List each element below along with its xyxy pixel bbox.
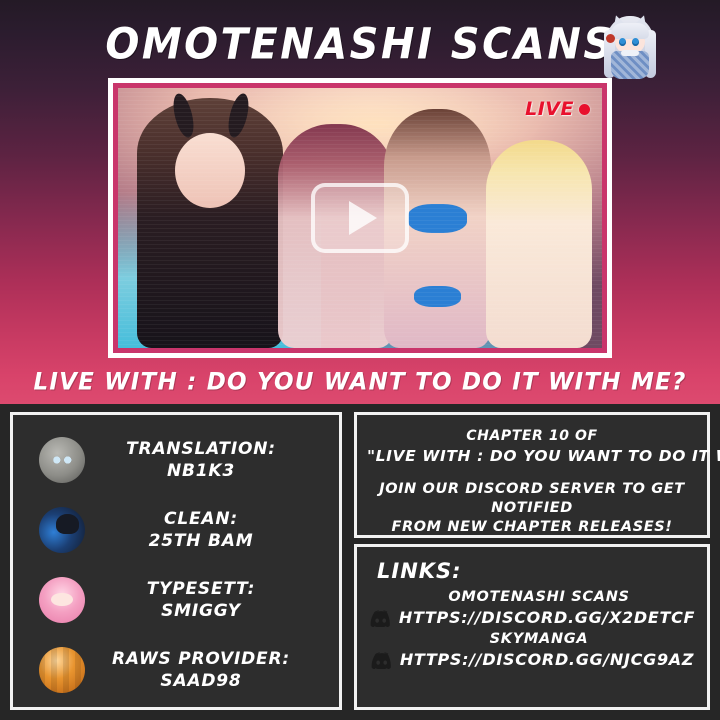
discord-icon — [370, 652, 392, 669]
links-heading: LINKS: — [357, 547, 707, 587]
info-section: TRANSLATION: NB1K3 CLEAN: 25TH BAM TYPES… — [0, 404, 720, 720]
link-row[interactable]: HTTPS://DISCORD.GG/X2DETCF — [357, 607, 707, 629]
avatar-blue-character-icon — [39, 507, 85, 553]
mascot-eye-right — [632, 38, 639, 46]
credit-role: RAWS PROVIDER: — [85, 648, 317, 670]
live-dot-icon — [579, 104, 590, 115]
list-item: OMOTENASHI SCANS HTTPS://DISCORD.GG/X2DE… — [357, 587, 707, 629]
credit-role: TYPESETT: — [85, 578, 317, 600]
status-badge: LIVE — [525, 98, 590, 120]
live-badge-label: LIVE — [525, 98, 574, 120]
mascot-hair-bow-icon — [606, 34, 615, 43]
credit-name: NB1K3 — [85, 460, 317, 482]
credit-role: CLEAN: — [85, 508, 317, 530]
banner-figure-1-bunny-ears-icon — [172, 93, 250, 138]
list-item: CLEAN: 25TH BAM — [13, 495, 339, 565]
chapter-number-line: CHAPTER 10 OF — [367, 427, 697, 446]
credit-text: RAWS PROVIDER: SAAD98 — [85, 648, 339, 692]
credit-text: TRANSLATION: NB1K3 — [85, 438, 339, 482]
mascot-collar — [621, 50, 639, 56]
work-title: LIVE WITH : DO YOU WANT TO DO IT WITH ME… — [0, 359, 720, 404]
credit-name: SAAD98 — [85, 670, 317, 692]
credit-name: SMIGGY — [85, 600, 317, 622]
credits-list: TRANSLATION: NB1K3 CLEAN: 25TH BAM TYPES… — [13, 415, 339, 705]
credit-text: TYPESETT: SMIGGY — [85, 578, 339, 622]
credit-text: CLEAN: 25TH BAM — [85, 508, 339, 552]
avatar-pink-character-icon — [39, 577, 85, 623]
banner-figure-1 — [137, 98, 282, 348]
banner-figure-3-top — [408, 204, 468, 233]
play-button[interactable] — [311, 183, 409, 253]
link-label: SKYMANGA — [357, 629, 707, 649]
list-item: RAWS PROVIDER: SAAD98 — [13, 635, 339, 705]
avatar-orange-sphere-icon — [39, 647, 85, 693]
list-item: SKYMANGA HTTPS://DISCORD.GG/NJCG9AZ — [357, 629, 707, 671]
discord-invite-text: JOIN OUR DISCORD SERVER TO GET NOTIFIED … — [367, 480, 697, 537]
banner-figure-3-bottom — [414, 286, 461, 308]
link-url[interactable]: HTTPS://DISCORD.GG/NJCG9AZ — [400, 649, 694, 671]
banner-frame: LIVE — [108, 78, 612, 358]
mascot-fringe — [611, 23, 649, 39]
chibi-mascot-icon — [597, 6, 663, 84]
release-credits-page: OMOTENASHI SCANS — [0, 0, 720, 720]
list-item: TRANSLATION: NB1K3 — [13, 425, 339, 495]
link-label: OMOTENASHI SCANS — [357, 587, 707, 607]
discord-invite-line-1: JOIN OUR DISCORD SERVER TO GET NOTIFIED — [367, 480, 697, 518]
credit-role: TRANSLATION: — [85, 438, 317, 460]
banner-figure-1-face — [175, 133, 245, 208]
link-row[interactable]: HTTPS://DISCORD.GG/NJCG9AZ — [357, 649, 707, 671]
banner-artwork[interactable]: LIVE — [118, 88, 602, 348]
avatar-grey-character-icon — [39, 437, 85, 483]
credits-panel: TRANSLATION: NB1K3 CLEAN: 25TH BAM TYPES… — [10, 412, 342, 710]
mascot-eye-left — [619, 38, 626, 46]
credit-name: 25TH BAM — [85, 530, 317, 552]
link-url[interactable]: HTTPS://DISCORD.GG/X2DETCF — [399, 607, 695, 629]
chapter-series-line: "LIVE WITH : DO YOU WANT TO DO IT WITH M… — [367, 446, 697, 466]
chapter-info-text: CHAPTER 10 OF "LIVE WITH : DO YOU WANT T… — [357, 415, 707, 537]
banner-figure-4 — [486, 140, 592, 348]
play-triangle-icon — [349, 201, 377, 235]
chapter-info-panel: CHAPTER 10 OF "LIVE WITH : DO YOU WANT T… — [354, 412, 710, 538]
discord-icon — [369, 610, 391, 627]
banner-inner-border: LIVE — [113, 83, 607, 353]
links-panel: LINKS: OMOTENASHI SCANS HTTPS://DISCORD.… — [354, 544, 710, 710]
list-item: TYPESETT: SMIGGY — [13, 565, 339, 635]
hero-gradient-section: OMOTENASHI SCANS — [0, 0, 720, 404]
discord-invite-line-2: FROM NEW CHAPTER RELEASES! — [367, 518, 697, 537]
